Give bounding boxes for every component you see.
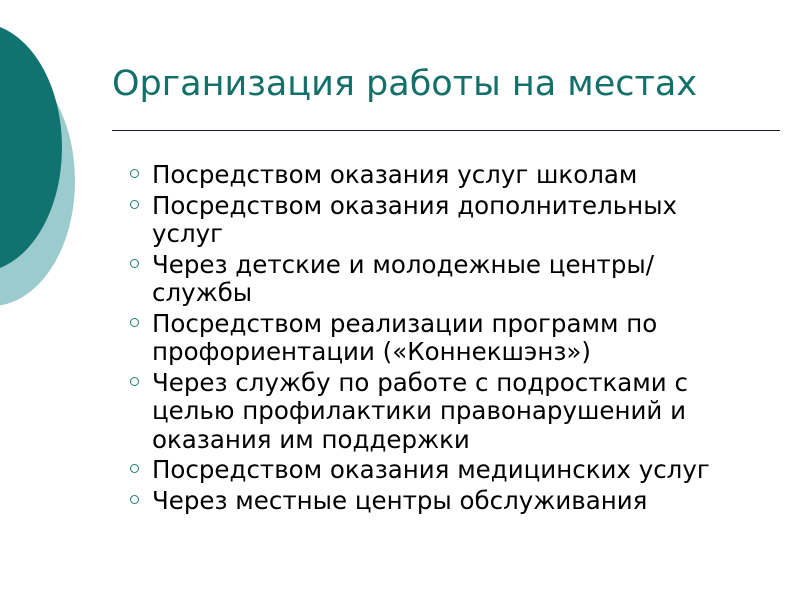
list-item: Посредством оказания медицинских услуг — [126, 456, 746, 485]
hollow-circle-bullet-icon — [130, 259, 139, 268]
list-item-label: Посредством реализации программ по профо… — [152, 310, 746, 367]
title-block: Организация работы на местах — [112, 62, 782, 106]
dark-teal-circle — [0, 23, 62, 272]
hollow-circle-bullet-icon — [130, 377, 139, 386]
list-item: Посредством оказания услуг школам — [126, 161, 746, 190]
list-item: Через местные центры обслуживания — [126, 487, 746, 516]
hollow-circle-bullet-icon — [130, 318, 139, 327]
page-title: Организация работы на местах — [112, 62, 782, 106]
list-item: Посредством оказания дополнительных услу… — [126, 192, 746, 249]
presentation-slide: Организация работы на местах Посредством… — [0, 0, 800, 600]
list-item: Посредством реализации программ по профо… — [126, 310, 746, 367]
list-item-label: Через детские и молодежные центры/службы — [152, 251, 746, 308]
title-divider — [112, 130, 780, 131]
list-item: Через детские и молодежные центры/службы — [126, 251, 746, 308]
list-item-label: Через местные центры обслуживания — [152, 487, 746, 516]
hollow-circle-bullet-icon — [130, 169, 139, 178]
light-teal-circle — [0, 56, 75, 306]
hollow-circle-bullet-icon — [130, 200, 139, 209]
hollow-circle-bullet-icon — [130, 495, 139, 504]
bullet-list: Посредством оказания услуг школам Посред… — [126, 161, 746, 517]
list-item-label: Через службу по работе с подростками с ц… — [152, 369, 746, 455]
list-item-label: Посредством оказания медицинских услуг — [152, 456, 746, 485]
list-item: Через службу по работе с подростками с ц… — [126, 369, 746, 455]
hollow-circle-bullet-icon — [130, 464, 139, 473]
list-item-label: Посредством оказания дополнительных услу… — [152, 192, 746, 249]
list-item-label: Посредством оказания услуг школам — [152, 161, 746, 190]
